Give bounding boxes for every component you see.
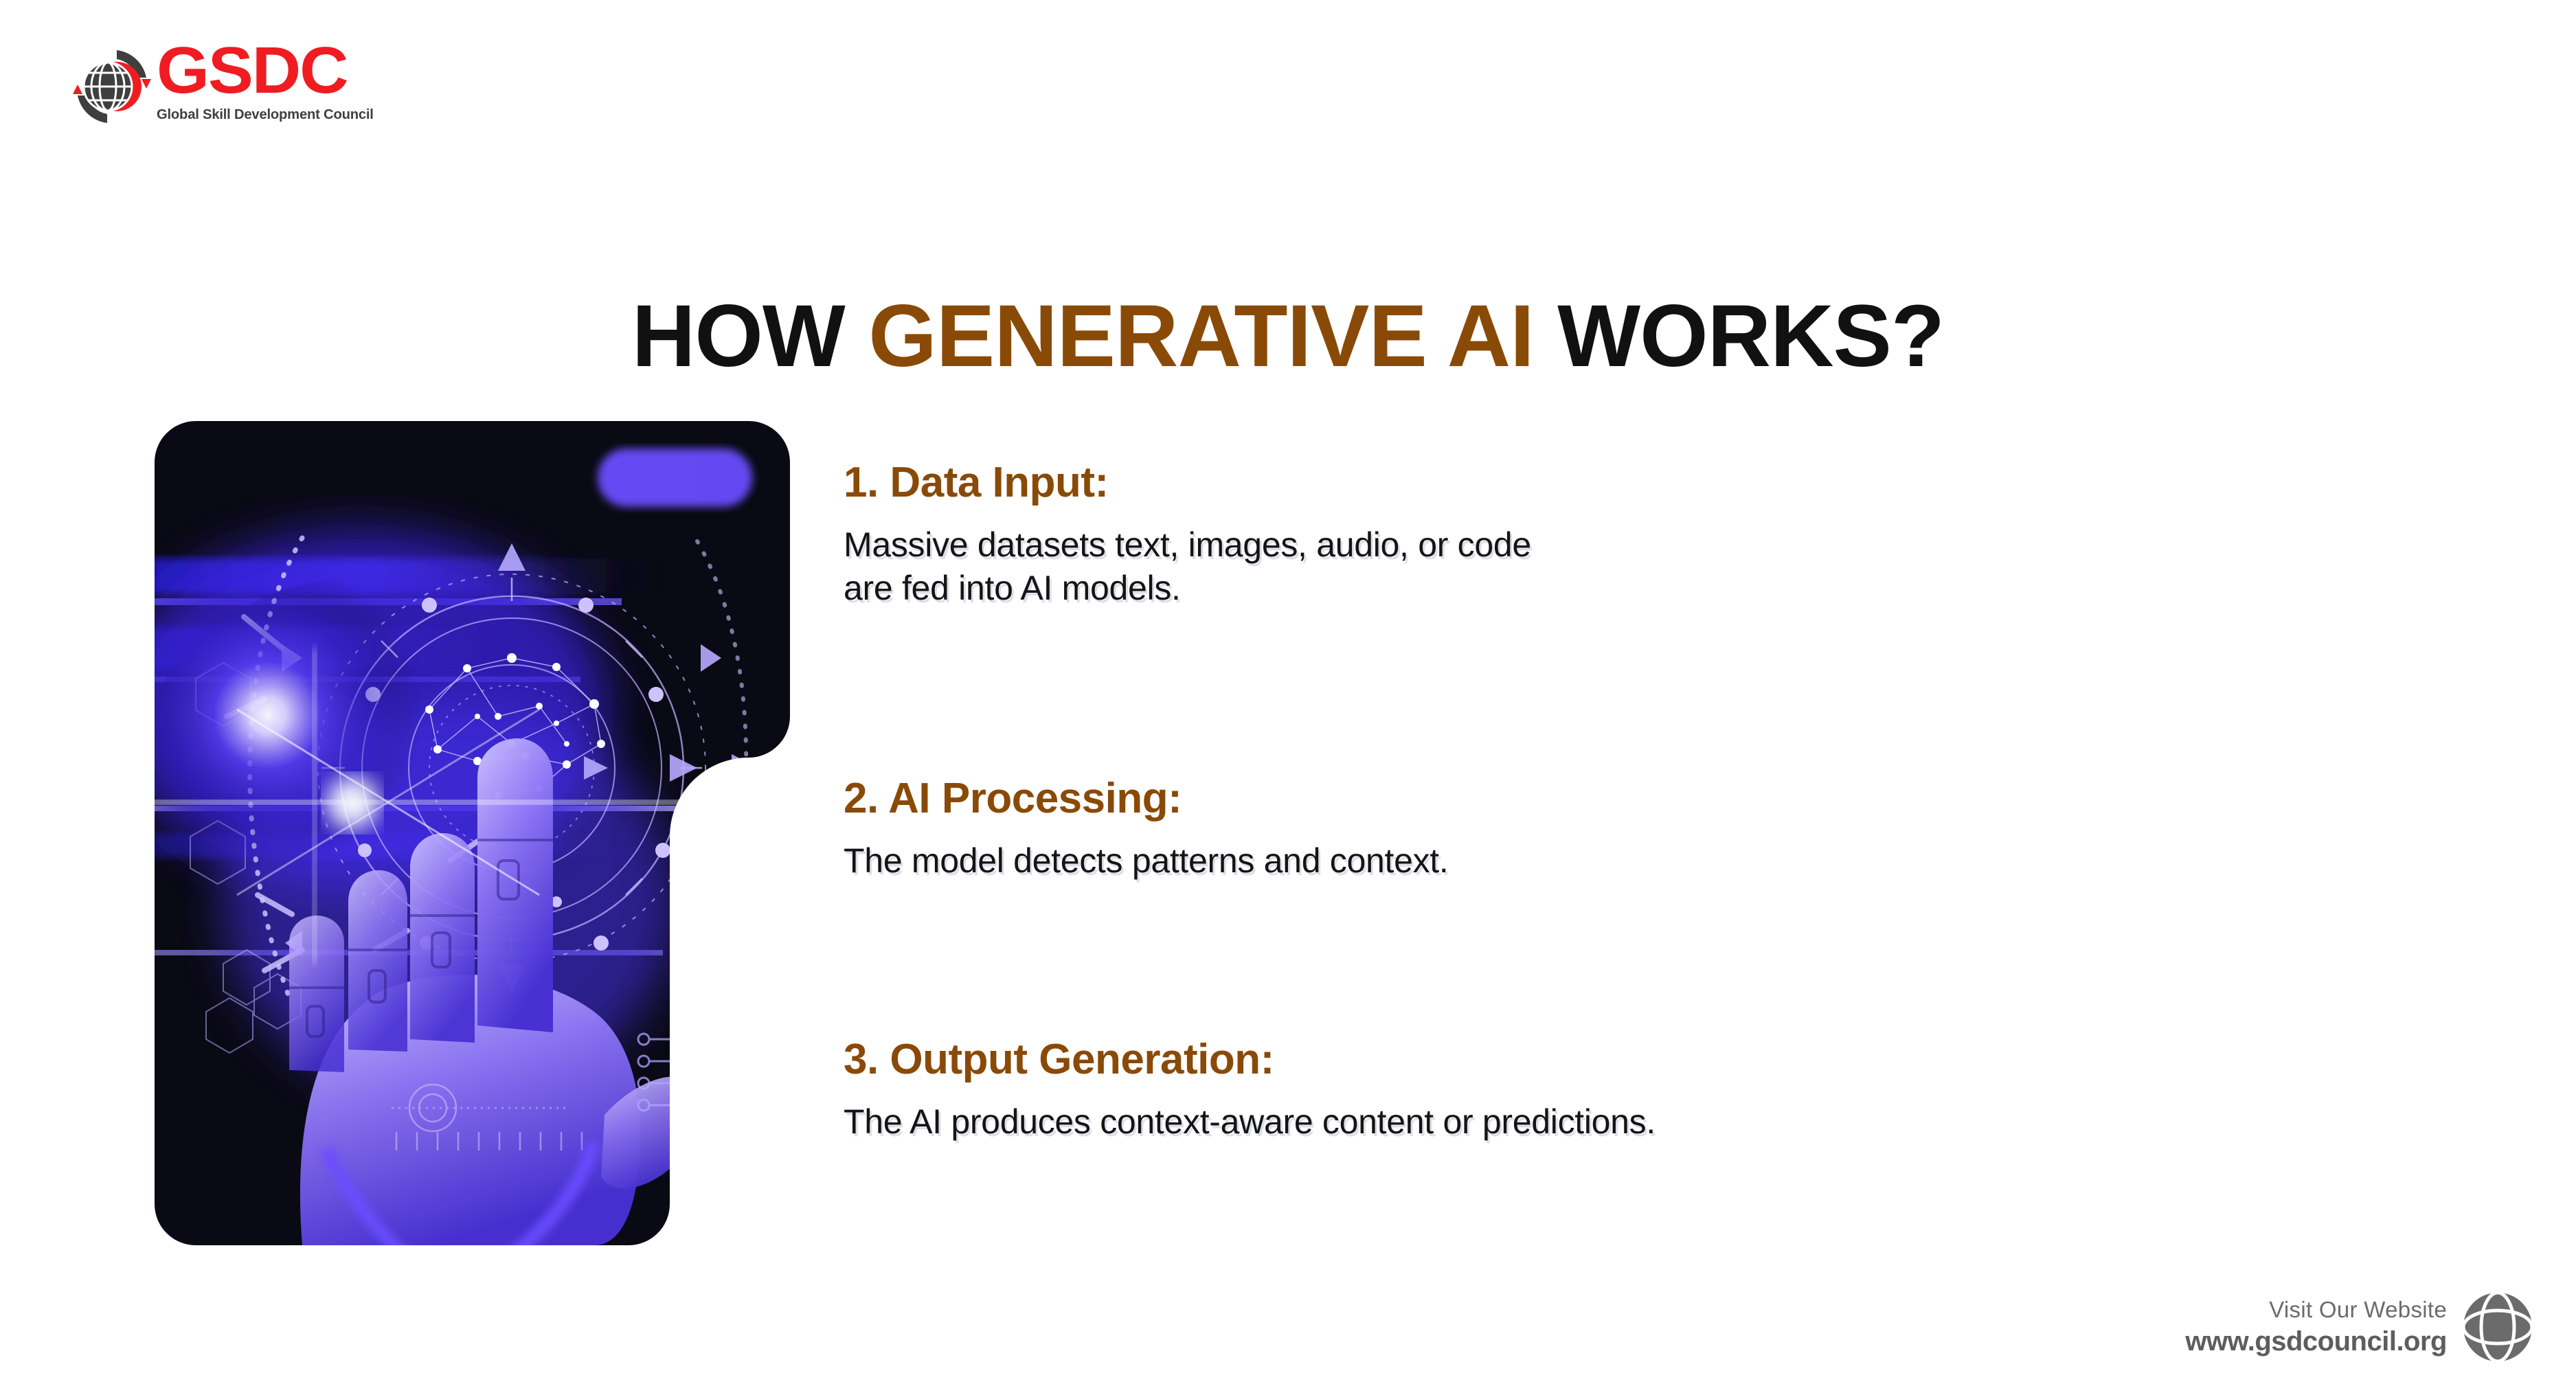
footer-visit-label: Visit Our Website xyxy=(2185,1295,2447,1324)
brand-wordmark: GSDC Global Skill Development Council xyxy=(157,38,390,123)
step-1-body-line-1: Massive datasets text, images, audio, or… xyxy=(844,523,1531,567)
page-title-trail: WORKS? xyxy=(1534,287,1944,385)
brand-logo[interactable]: GSDC Global Skill Development Council xyxy=(69,38,392,134)
step-1-body: Massive datasets text, images, audio, or… xyxy=(844,523,1531,609)
step-3-body-line-1: The AI produces context-aware content or… xyxy=(844,1100,1656,1144)
step-3-heading: 3. Output Generation: xyxy=(844,1039,1656,1081)
footer-website-link[interactable]: Visit Our Website www.gsdcouncil.org xyxy=(2185,1290,2535,1364)
step-item-3: 3. Output Generation: The AI produces co… xyxy=(844,1039,1656,1144)
step-2-body-line-1: The model detects patterns and context. xyxy=(844,839,1449,883)
step-2-body: The model detects patterns and context. xyxy=(844,839,1449,883)
step-item-1: 1. Data Input: Massive datasets text, im… xyxy=(844,462,1531,609)
brand-name: GSDC xyxy=(157,38,397,104)
step-1-body-line-2: are fed into AI models. xyxy=(844,567,1531,610)
ai-hand-image xyxy=(155,421,790,1245)
footer-url[interactable]: www.gsdcouncil.org xyxy=(2185,1324,2447,1359)
globe-icon xyxy=(2461,1290,2535,1364)
globe-orbit-icon xyxy=(69,43,155,130)
footer-text-block: Visit Our Website www.gsdcouncil.org xyxy=(2185,1295,2447,1358)
brand-tagline: Global Skill Development Council xyxy=(157,106,387,123)
step-item-2: 2. AI Processing: The model detects patt… xyxy=(844,778,1449,883)
page-title-accent: GENERATIVE AI xyxy=(868,287,1533,385)
page-title: HOW GENERATIVE AI WORKS? xyxy=(0,286,2576,387)
hero-illustration xyxy=(155,421,790,1245)
step-3-body: The AI produces context-aware content or… xyxy=(844,1100,1656,1144)
step-2-heading: 2. AI Processing: xyxy=(844,778,1449,820)
step-1-heading: 1. Data Input: xyxy=(844,462,1531,504)
page-title-lead: HOW xyxy=(632,287,868,385)
